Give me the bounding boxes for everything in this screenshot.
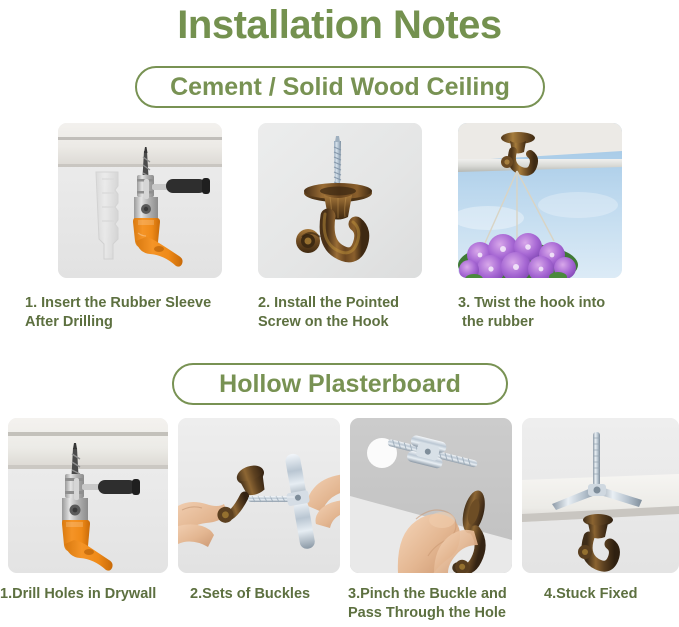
image-card-hanging-basket bbox=[458, 123, 622, 278]
drill-with-rubber-sleeve-photo bbox=[58, 123, 222, 278]
image-card-drill-with-rubber-sleeve bbox=[58, 123, 222, 278]
page-title: Installation Notes bbox=[0, 2, 679, 48]
toggle-bolt-and-hook-set-photo bbox=[178, 418, 340, 573]
step-caption-line1: 2. Install the Pointed bbox=[258, 294, 448, 313]
step-caption-line1: 1. Insert the Rubber Sleeve bbox=[25, 294, 245, 313]
step-caption-line1: 1.Drill Holes in Drywall bbox=[0, 585, 175, 604]
step-caption-line2: Screw on the Hook bbox=[258, 313, 448, 332]
image-card-pinch-buckle bbox=[350, 418, 512, 573]
step-caption-line1: 2.Sets of Buckles bbox=[190, 585, 345, 604]
section-heading-plasterboard: Hollow Plasterboard bbox=[172, 363, 508, 405]
step-caption-2-1: 1.Drill Holes in Drywall bbox=[0, 585, 175, 604]
image-card-hook-with-screw bbox=[258, 123, 422, 278]
image-card-buckle-sets bbox=[178, 418, 340, 573]
bronze-hook-with-screw-photo bbox=[258, 123, 422, 278]
step-caption-1-1: 1. Insert the Rubber Sleeve After Drilli… bbox=[25, 294, 245, 332]
step-caption-line1: 4.Stuck Fixed bbox=[544, 585, 679, 604]
step-caption-line1: 3.Pinch the Buckle and bbox=[348, 585, 523, 604]
step-caption-line1: 3. Twist the hook into bbox=[458, 294, 658, 313]
step-caption-1-3: 3. Twist the hook into the rubber bbox=[458, 294, 658, 332]
hanging-flower-basket-on-hook-photo bbox=[458, 123, 622, 278]
step-caption-line2: After Drilling bbox=[25, 313, 245, 332]
toggle-anchor-installed-photo bbox=[522, 418, 679, 573]
pinch-toggle-bolt-photo bbox=[350, 418, 512, 573]
step-caption-line2: Pass Through the Hole bbox=[348, 604, 523, 623]
step-caption-2-2: 2.Sets of Buckles bbox=[190, 585, 345, 604]
drill-into-drywall-photo bbox=[8, 418, 168, 573]
step-caption-2-4: 4.Stuck Fixed bbox=[544, 585, 679, 604]
step-caption-line2: the rubber bbox=[458, 313, 658, 332]
image-card-stuck-fixed bbox=[522, 418, 679, 573]
image-card-drill-drywall bbox=[8, 418, 168, 573]
section-heading-cement: Cement / Solid Wood Ceiling bbox=[135, 66, 545, 108]
step-caption-2-3: 3.Pinch the Buckle and Pass Through the … bbox=[348, 585, 523, 623]
step-caption-1-2: 2. Install the Pointed Screw on the Hook bbox=[258, 294, 448, 332]
installation-notes-infographic: Installation Notes Cement / Solid Wood C… bbox=[0, 0, 679, 627]
